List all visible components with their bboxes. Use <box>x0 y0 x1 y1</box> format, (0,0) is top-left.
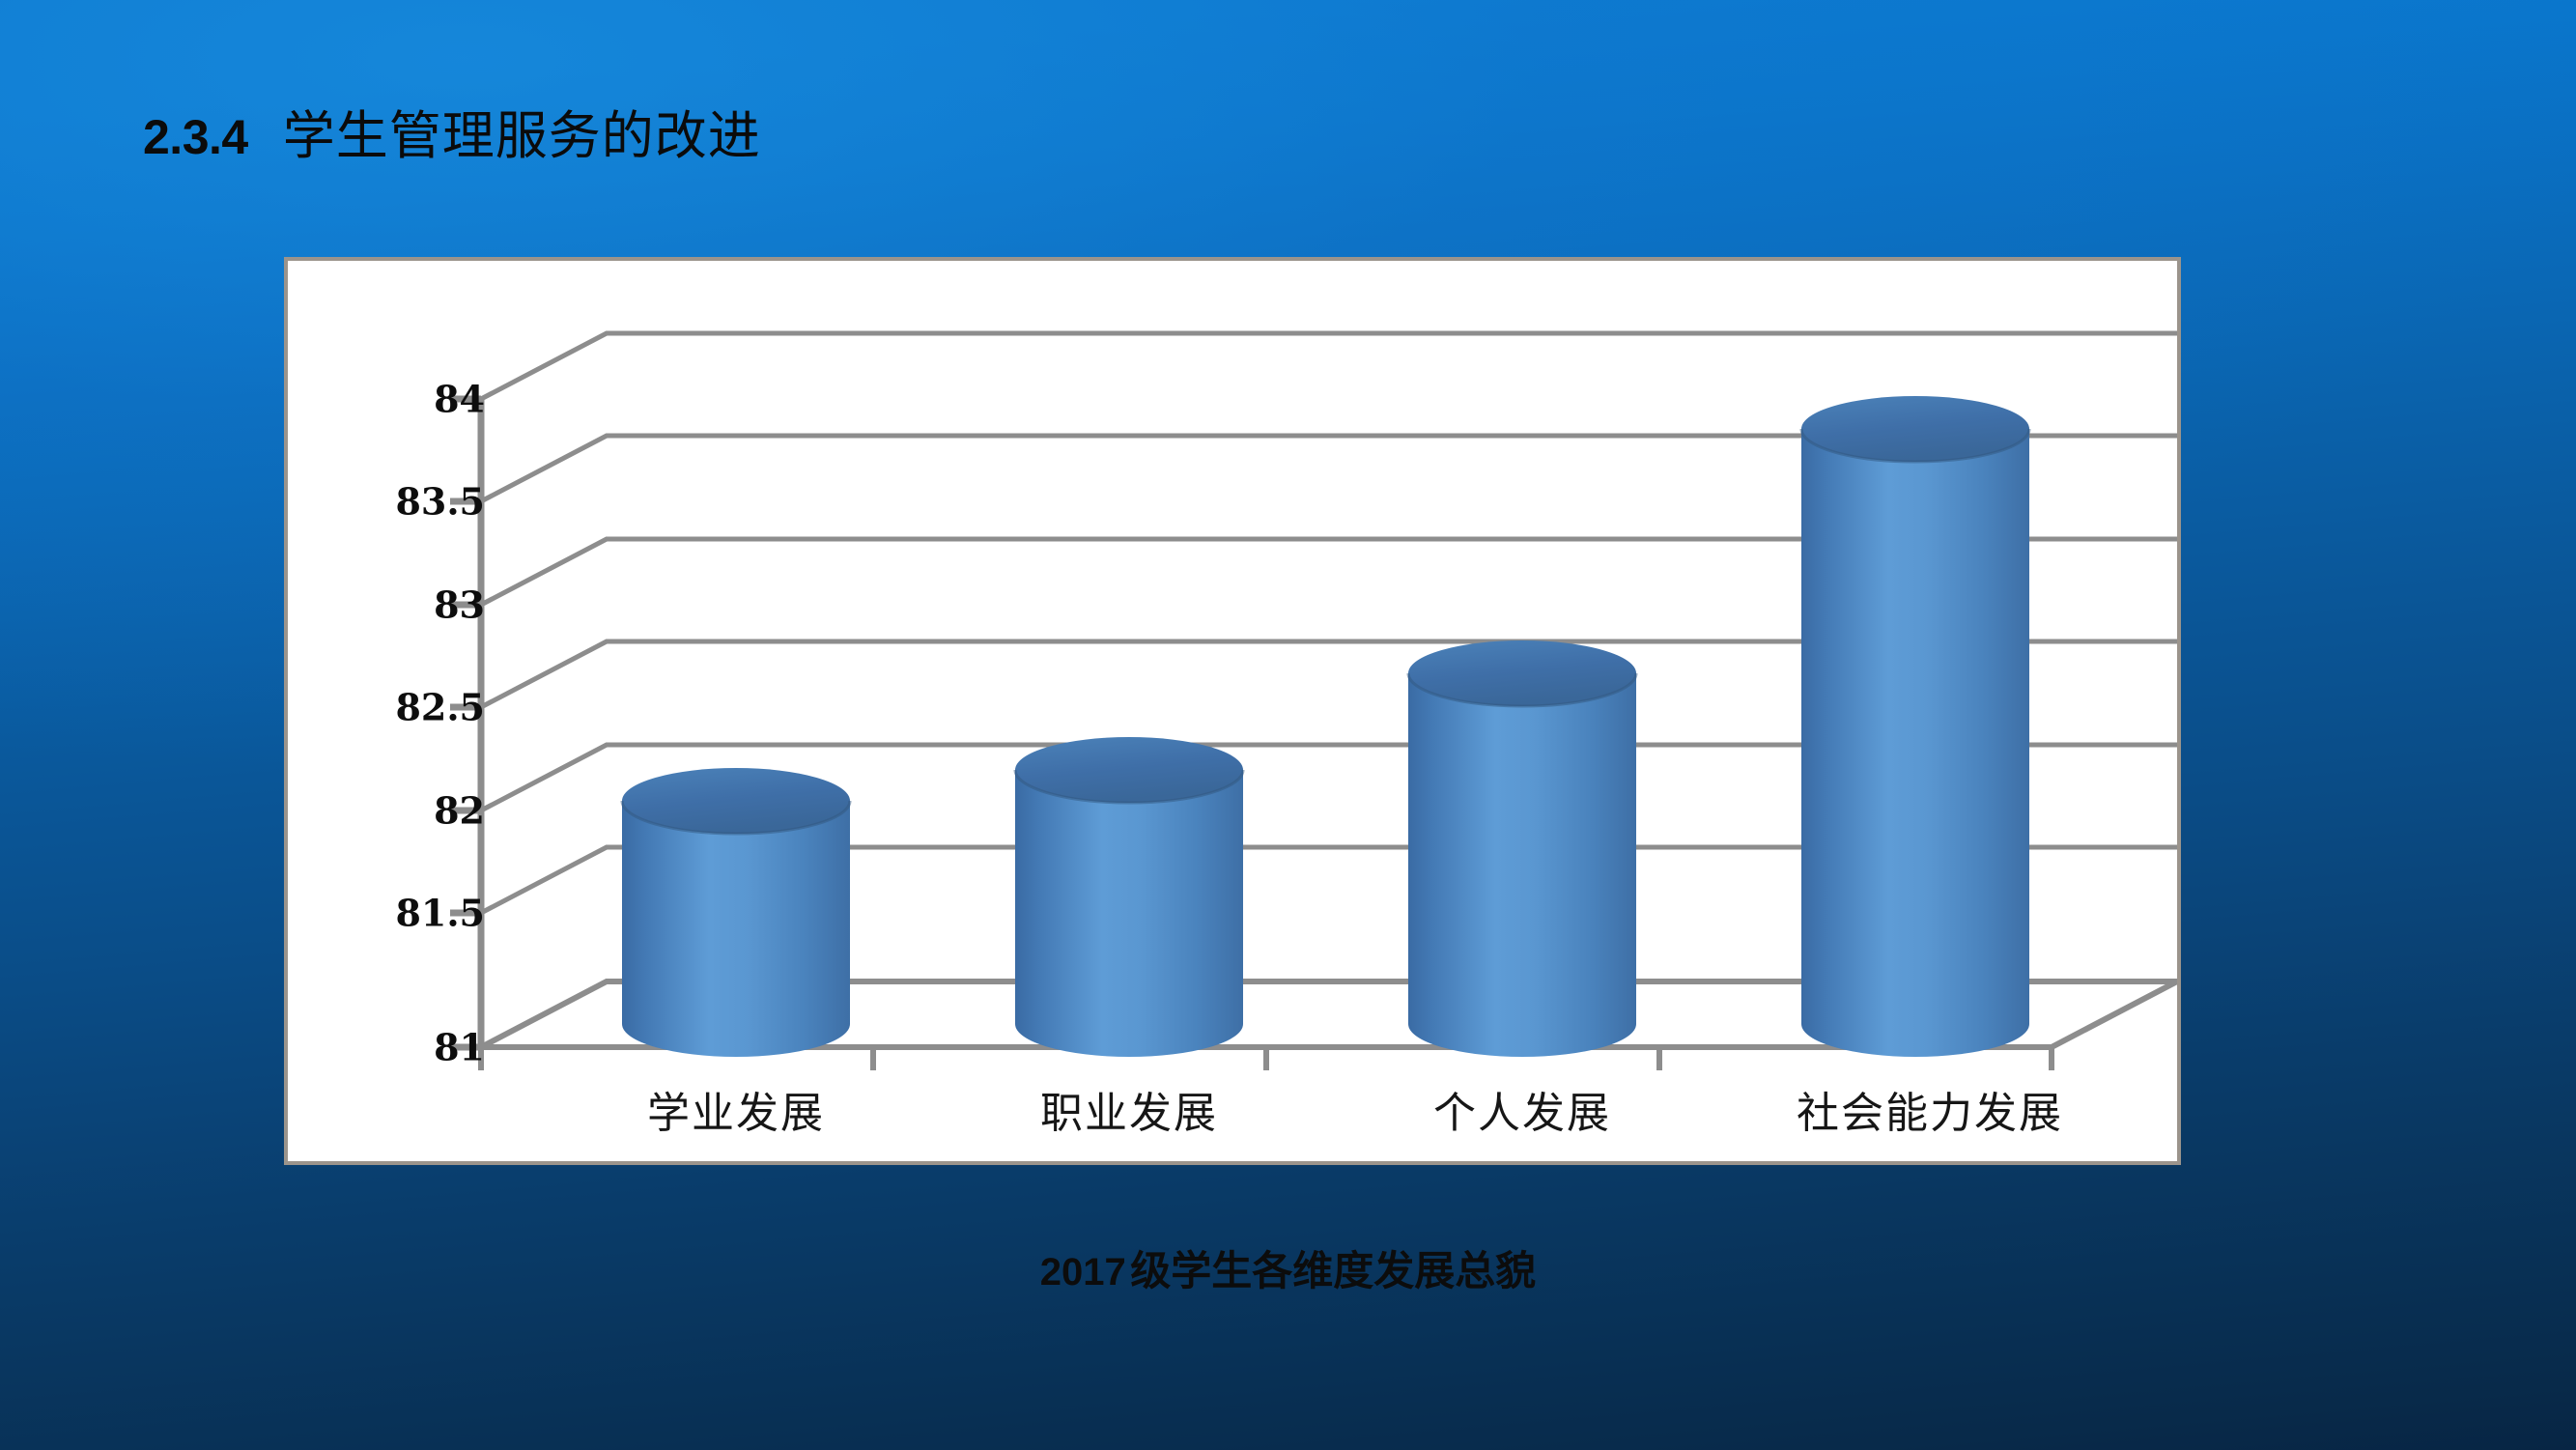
x-category-label: 学业发展 <box>647 1078 825 1140</box>
slide-canvas: 2.3.4 学生管理服务的改进 <box>0 0 2576 1450</box>
x-category-label: 个人发展 <box>1433 1078 1611 1140</box>
page-title: 2.3.4 学生管理服务的改进 <box>143 93 761 169</box>
chart-x-category-labels: 学业发展 职业发展 个人发展 社会能力发展 <box>288 261 2177 1161</box>
x-category-label: 职业发展 <box>1040 1078 1218 1140</box>
page-title-text: 学生管理服务的改进 <box>283 93 761 169</box>
page-title-number: 2.3.4 <box>143 109 248 165</box>
x-category-label: 社会能力发展 <box>1797 1078 2063 1140</box>
chart-container: 84 83.5 83 82.5 82 81.5 81 学业发展 职业发展 个人发… <box>284 257 2181 1165</box>
chart-caption: 2017 级学生各维度发展总貌 <box>0 1238 2576 1297</box>
chart-caption-number: 2017 <box>1040 1251 1126 1294</box>
chart-caption-text: 级学生各维度发展总貌 <box>1130 1247 1536 1294</box>
